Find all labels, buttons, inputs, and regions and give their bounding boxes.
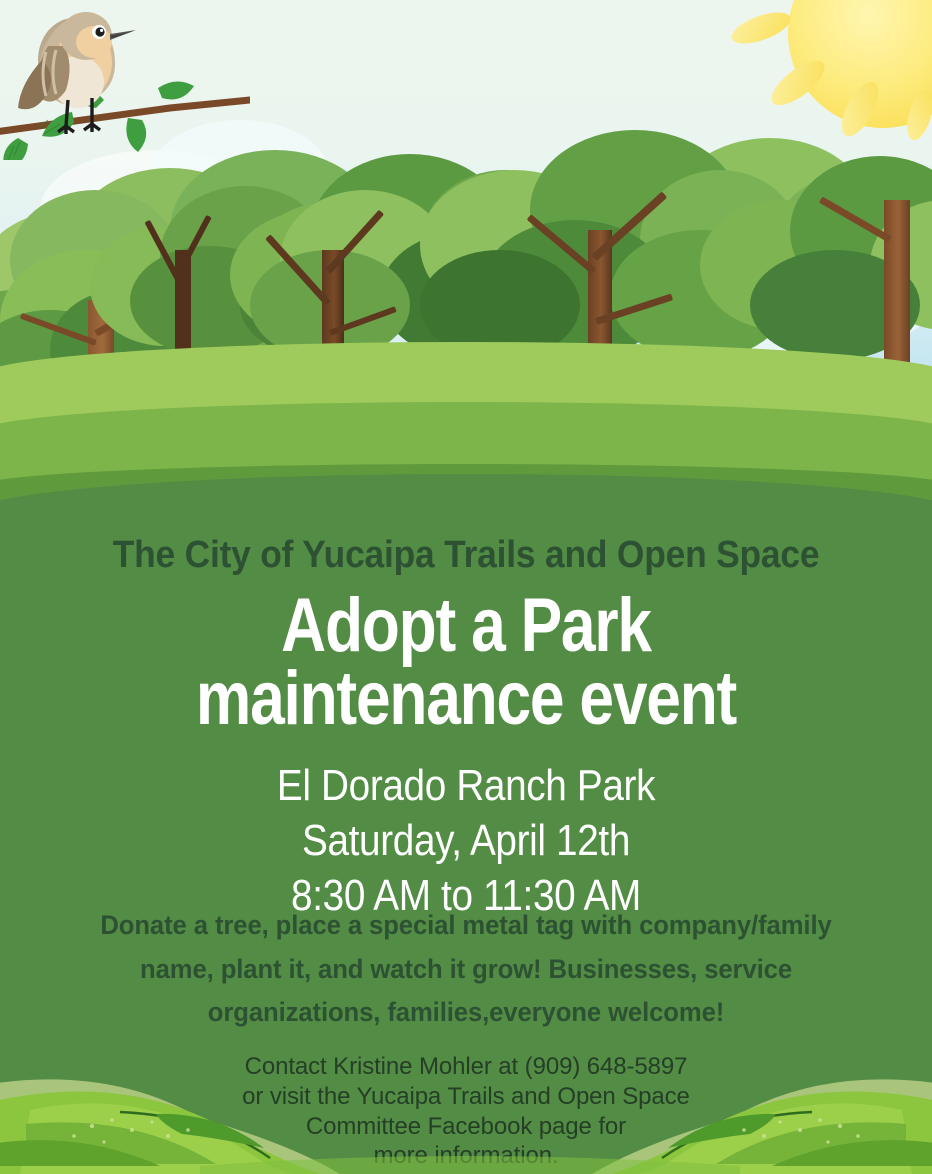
contact-line-4: more information. [0,1141,932,1171]
contact-line-1: Contact Kristine Mohler at (909) 648-589… [0,1052,932,1082]
contact-line-2: or visit the Yucaipa Trails and Open Spa… [0,1082,932,1112]
event-description: Donate a tree, place a special metal tag… [23,904,908,1035]
contact-line-3: Committee Facebook page for [0,1112,932,1142]
event-title: Adopt a Park maintenance event [84,590,848,736]
contact-info: Contact Kristine Mohler at (909) 648-589… [0,1052,932,1171]
content-panel: The City of Yucaipa Trails and Open Spac… [0,500,932,1174]
event-details: El Dorado Ranch Park Saturday, April 12t… [56,758,876,923]
bird-icon [0,0,250,160]
event-date: Saturday, April 12th [56,813,876,868]
event-location: El Dorado Ranch Park [56,758,876,813]
sun-ray [728,6,794,50]
forest-illustration [0,0,932,524]
event-title-line2: maintenance event [84,663,848,736]
flyer: The City of Yucaipa Trails and Open Spac… [0,0,932,1174]
panel-curve [0,474,932,534]
event-title-line1: Adopt a Park [84,590,848,663]
organization-heading: The City of Yucaipa Trails and Open Spac… [33,534,900,577]
